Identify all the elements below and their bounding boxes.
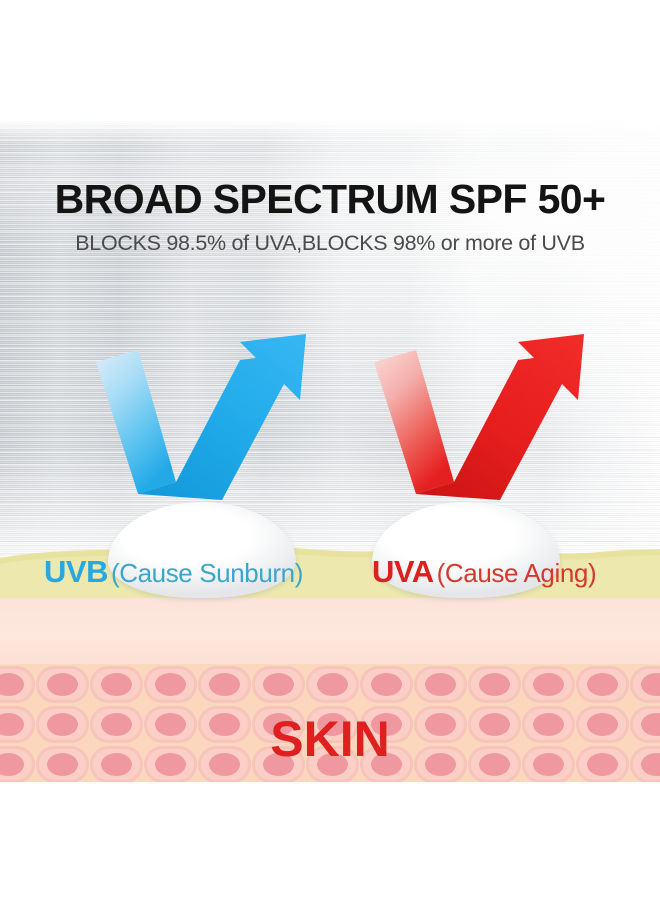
skin-cell	[306, 666, 359, 703]
skin-cell-nucleus	[371, 673, 402, 696]
page-subtitle: BLOCKS 98.5% of UVA,BLOCKS 98% or more o…	[0, 232, 660, 256]
skin-cell	[630, 666, 660, 703]
skin-label: SKIN	[0, 714, 660, 764]
skin-cell	[198, 666, 251, 703]
uva-arrow-icon	[366, 332, 616, 537]
metal-top-fade	[0, 120, 660, 146]
skin-cell-nucleus	[317, 673, 348, 696]
uvb-description-label: (Cause Sunburn)	[111, 558, 303, 588]
skin-cell-nucleus	[101, 673, 132, 696]
skin-cell-nucleus	[209, 673, 240, 696]
skin-cell-nucleus	[425, 673, 456, 696]
skin-cell	[522, 666, 575, 703]
skin-cell	[252, 666, 305, 703]
skin-cell-nucleus	[587, 673, 618, 696]
skin-cell-nucleus	[641, 673, 660, 696]
skin-cell	[0, 666, 35, 703]
skin-cell	[414, 666, 467, 703]
skin-epidermis-pale-band	[0, 598, 660, 670]
skin-cell	[90, 666, 143, 703]
skin-cell-nucleus	[0, 673, 24, 696]
skin-cell-nucleus	[47, 673, 78, 696]
sunscreen-infographic-poster: BROAD SPECTRUM SPF 50+ BLOCKS 98.5% of U…	[0, 0, 660, 900]
skin-cell	[36, 666, 89, 703]
uva-caption: UVA(Cause Aging)	[372, 556, 596, 587]
skin-cell	[144, 666, 197, 703]
uvb-code-label: UVB	[44, 554, 108, 589]
skin-cell-nucleus	[533, 673, 564, 696]
uva-description-label: (Cause Aging)	[437, 558, 597, 588]
skin-cell-nucleus	[479, 673, 510, 696]
uva-code-label: UVA	[372, 554, 434, 589]
skin-cell	[360, 666, 413, 703]
headline-block: BROAD SPECTRUM SPF 50+ BLOCKS 98.5% of U…	[0, 178, 660, 255]
skin-cell-nucleus	[263, 673, 294, 696]
page-title: BROAD SPECTRUM SPF 50+	[0, 178, 660, 221]
uvb-arrow-icon	[88, 332, 338, 537]
skin-cell	[468, 666, 521, 703]
skin-cell-nucleus	[155, 673, 186, 696]
skin-cell	[576, 666, 629, 703]
uvb-caption: UVB(Cause Sunburn)	[44, 556, 303, 587]
